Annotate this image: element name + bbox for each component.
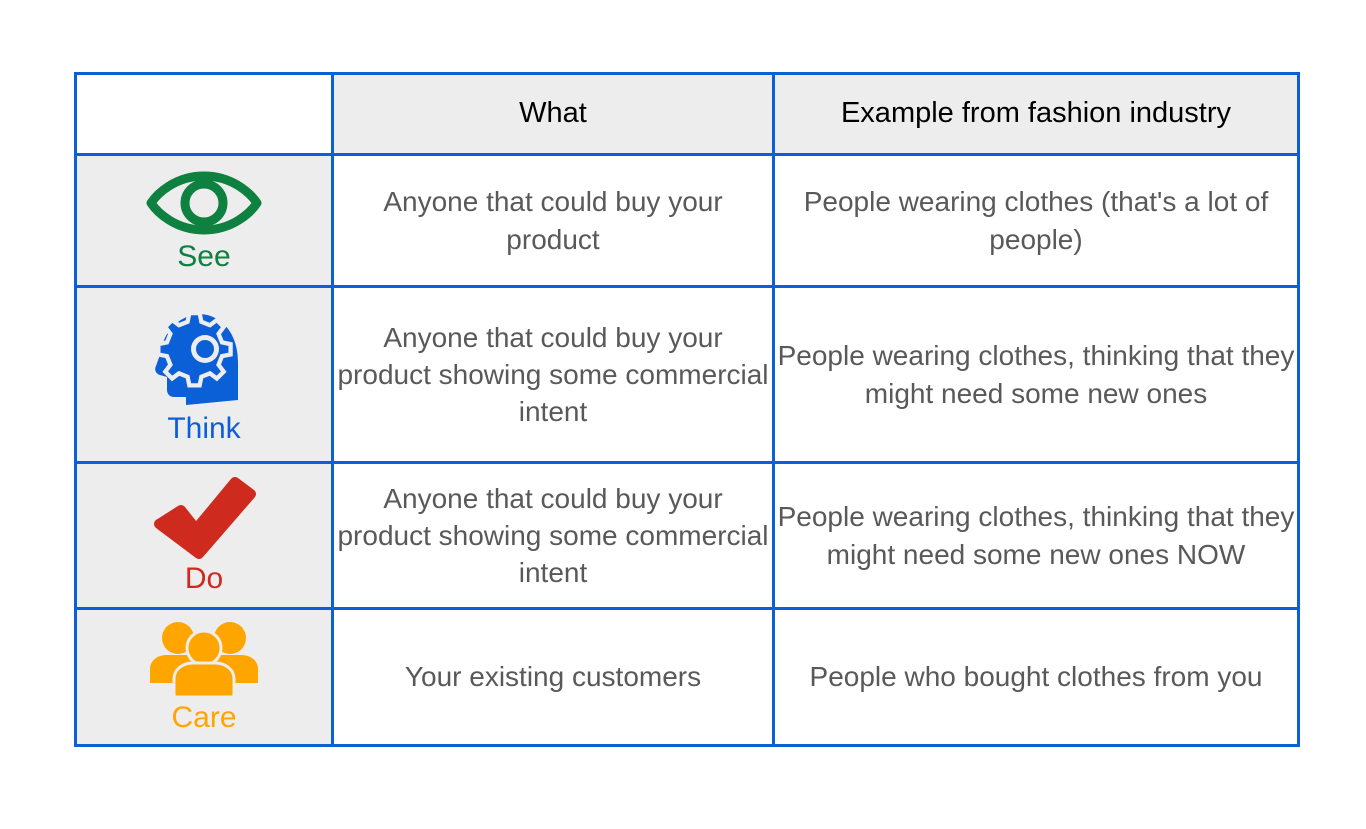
checkmark-icon bbox=[151, 476, 257, 560]
icon-cell-care: Care bbox=[76, 609, 333, 746]
cell-text: Anyone that could buy your product showi… bbox=[334, 480, 772, 592]
icon-stack-care: Care bbox=[77, 621, 331, 734]
cell-text: People wearing clothes (that's a lot of … bbox=[775, 183, 1297, 257]
header-cell-blank bbox=[76, 74, 333, 155]
table-row-do: Do Anyone that could buy your product sh… bbox=[76, 463, 1299, 609]
table-row-think: Think Anyone that could buy your product… bbox=[76, 287, 1299, 463]
eye-icon bbox=[145, 168, 263, 238]
cell-text: People who bought clothes from you bbox=[775, 658, 1297, 695]
cell-what-think: Anyone that could buy your product showi… bbox=[333, 287, 774, 463]
cell-example-care: People who bought clothes from you bbox=[774, 609, 1299, 746]
icon-cell-see: See bbox=[76, 155, 333, 287]
header-cell-what: What bbox=[333, 74, 774, 155]
see-think-do-care-matrix: What Example from fashion industry See bbox=[74, 72, 1297, 744]
icon-label-think: Think bbox=[167, 412, 240, 445]
header-cell-example: Example from fashion industry bbox=[774, 74, 1299, 155]
icon-stack-think: Think bbox=[77, 304, 331, 445]
cell-what-care: Your existing customers bbox=[333, 609, 774, 746]
matrix-table: What Example from fashion industry See bbox=[74, 72, 1300, 747]
head-gear-icon bbox=[152, 304, 256, 410]
icon-label-care: Care bbox=[171, 701, 236, 734]
icon-cell-think: Think bbox=[76, 287, 333, 463]
cell-example-do: People wearing clothes, thinking that th… bbox=[774, 463, 1299, 609]
people-group-icon bbox=[148, 621, 260, 699]
table-row-care: Care Your existing customers People who … bbox=[76, 609, 1299, 746]
cell-text: People wearing clothes, thinking that th… bbox=[775, 498, 1297, 572]
icon-label-do: Do bbox=[185, 562, 223, 595]
table-header-row: What Example from fashion industry bbox=[76, 74, 1299, 155]
table-row-see: See Anyone that could buy your product P… bbox=[76, 155, 1299, 287]
cell-text: Your existing customers bbox=[334, 658, 772, 695]
cell-text: People wearing clothes, thinking that th… bbox=[775, 337, 1297, 411]
cell-text: Anyone that could buy your product showi… bbox=[334, 319, 772, 431]
icon-stack-see: See bbox=[77, 168, 331, 273]
cell-what-do: Anyone that could buy your product showi… bbox=[333, 463, 774, 609]
icon-stack-do: Do bbox=[77, 476, 331, 595]
icon-label-see: See bbox=[177, 240, 230, 273]
cell-example-think: People wearing clothes, thinking that th… bbox=[774, 287, 1299, 463]
icon-cell-do: Do bbox=[76, 463, 333, 609]
cell-text: Anyone that could buy your product bbox=[334, 183, 772, 257]
cell-what-see: Anyone that could buy your product bbox=[333, 155, 774, 287]
cell-example-see: People wearing clothes (that's a lot of … bbox=[774, 155, 1299, 287]
